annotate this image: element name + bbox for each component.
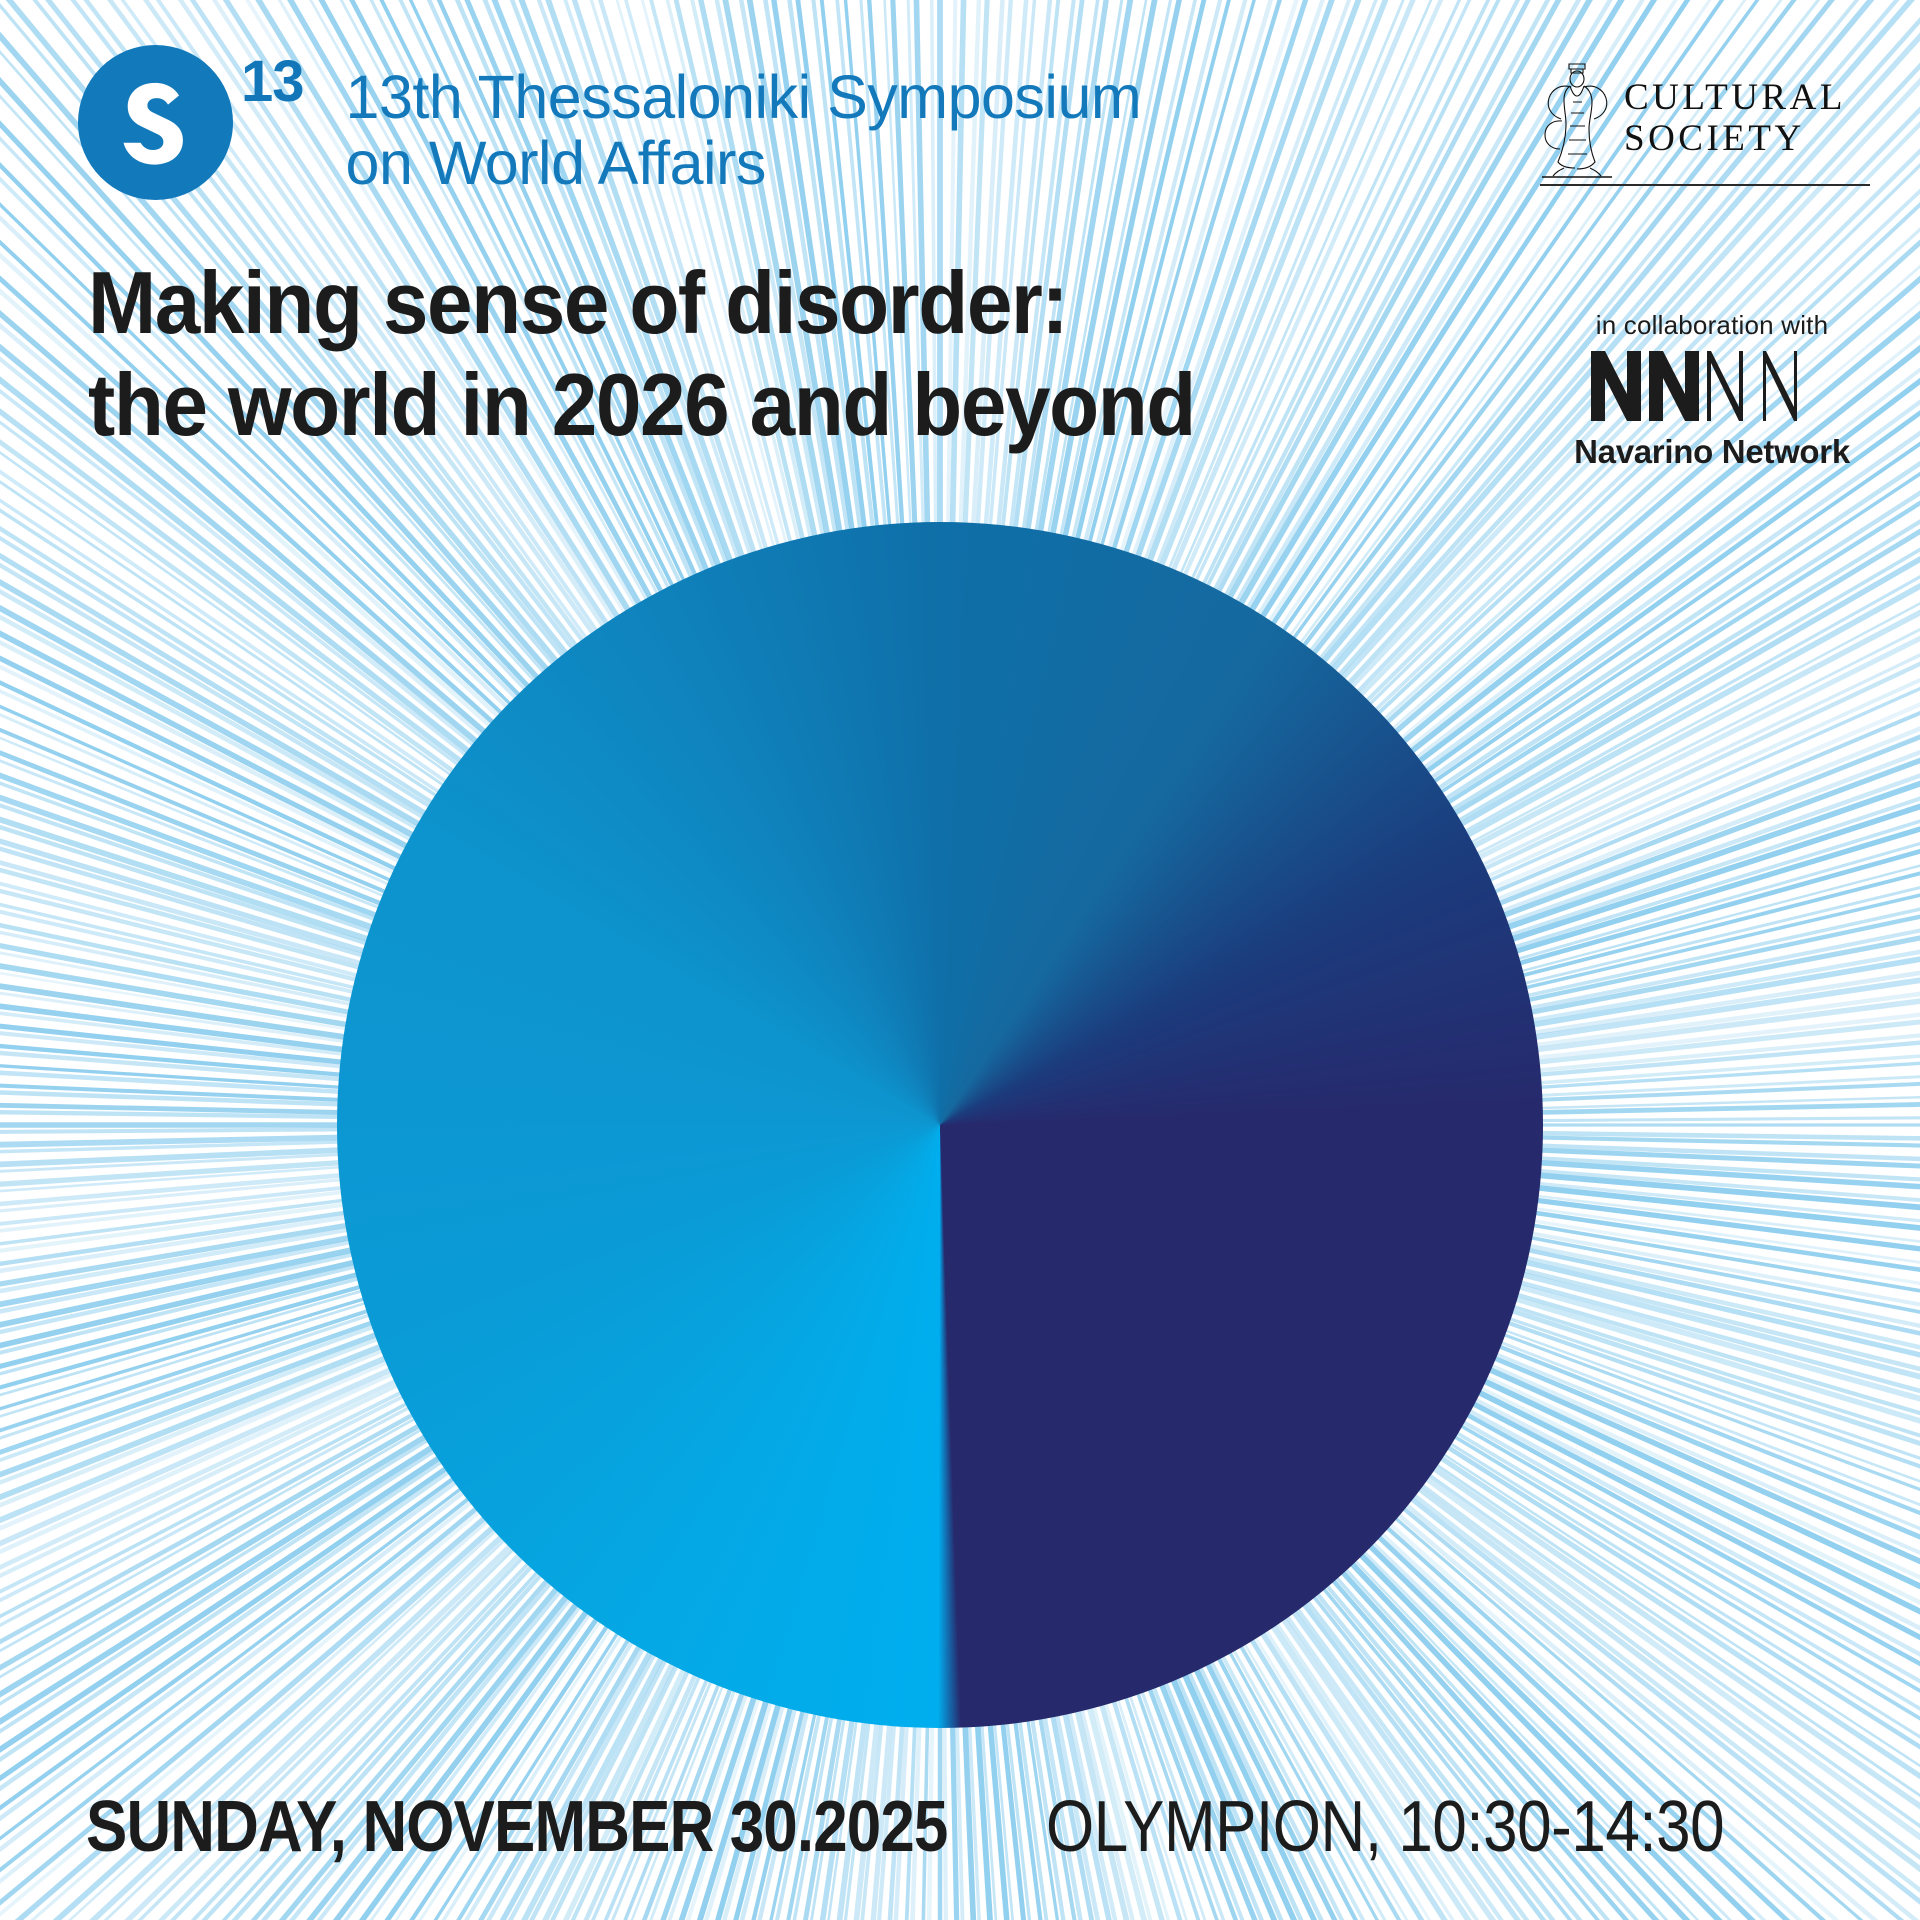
collaboration-label: in collaboration with: [1562, 310, 1862, 341]
page-title: Making sense of disorder: the world in 2…: [88, 252, 1195, 456]
s-monogram-icon: [78, 45, 233, 200]
caryatid-figure-icon: [1540, 58, 1614, 180]
nnnn-monogram-icon: [1587, 347, 1837, 425]
navarino-network-logo: in collaboration with Navarino Network: [1562, 310, 1862, 471]
edition-superscript: 13: [241, 53, 304, 111]
event-venue-time: OLYMPION, 10:30-14:30: [1046, 1786, 1724, 1868]
symposium-title: 13th Thessaloniki Symposium on World Aff…: [346, 65, 1142, 197]
poster-canvas: 13 13th Thessaloniki Symposium on World …: [0, 0, 1920, 1920]
cultural-society-rule: [1540, 184, 1870, 186]
cultural-society-line1: CULTURAL: [1624, 78, 1846, 119]
event-footer: SUNDAY, NOVEMBER 30.2025 OLYMPION, 10:30…: [0, 1786, 1920, 1868]
cultural-society-line2: SOCIETY: [1624, 119, 1846, 160]
navarino-network-name: Navarino Network: [1562, 433, 1862, 471]
cultural-society-logo: CULTURAL SOCIETY: [1540, 58, 1870, 186]
symposium-logo-lockup: 13 13th Thessaloniki Symposium on World …: [78, 45, 1141, 200]
conic-gradient-circle: [337, 522, 1543, 1728]
event-date: SUNDAY, NOVEMBER 30.2025: [86, 1786, 948, 1868]
